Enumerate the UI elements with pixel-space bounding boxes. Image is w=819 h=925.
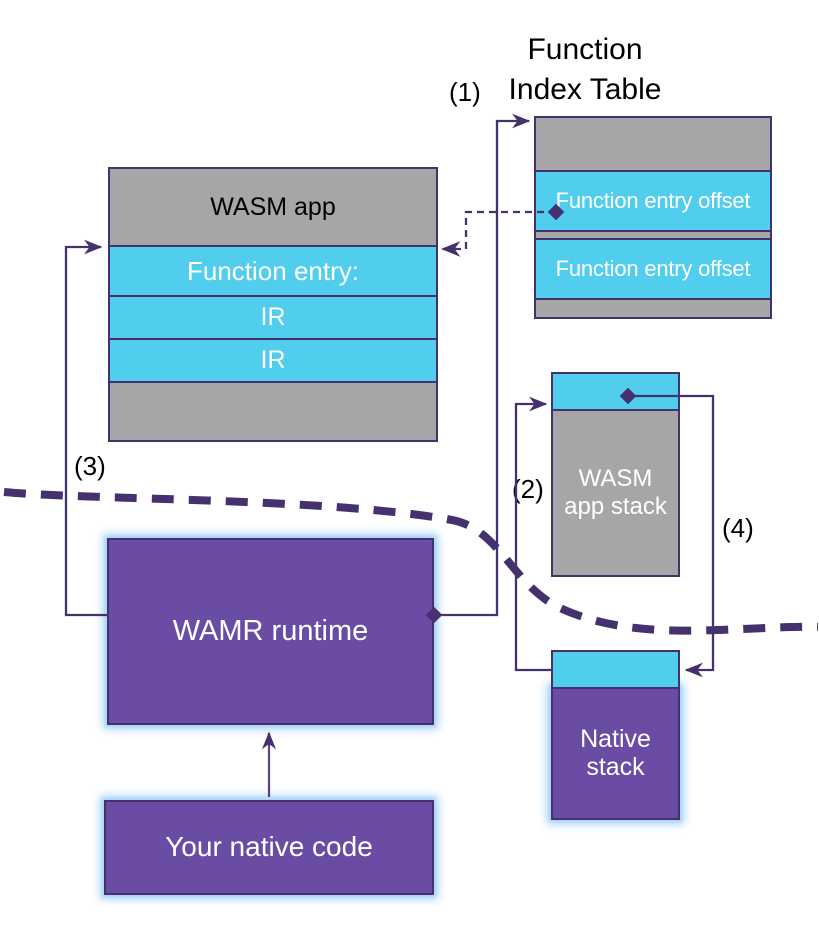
wasm-app-ir-row-2[interactable]: IR: [108, 338, 438, 383]
step-label-4: (4): [722, 514, 754, 544]
your-native-code-box[interactable]: Your native code: [104, 800, 434, 895]
wasm-app-stack-body: WASM app stack: [551, 409, 680, 577]
function-index-table-title-line1: Function: [527, 33, 642, 68]
wasm-app-function-entry-row[interactable]: Function entry:: [108, 245, 438, 297]
step-label-3: (3): [74, 452, 106, 482]
diagram-canvas: Function Index Table (1) (2) (3) (4) Fun…: [0, 0, 819, 925]
function-index-table: Function entry offset Function entry off…: [534, 116, 772, 319]
wasm-app-ir-label-1: IR: [261, 303, 286, 332]
native-stack-body: Native stack: [551, 687, 680, 820]
step-label-2: (2): [512, 475, 544, 505]
native-stack-top-band[interactable]: [551, 650, 680, 689]
fit-offset-label-2: Function entry offset: [556, 256, 751, 282]
native-stack-label-line1: Native: [580, 726, 651, 754]
wasm-app-footer-row: [108, 381, 438, 442]
wasm-app-stack-label-line2: app stack: [564, 493, 667, 521]
wasm-app-header-row: WASM app: [108, 167, 438, 247]
function-index-table-title-line2: Index Table: [509, 73, 662, 108]
your-native-code-label: Your native code: [165, 832, 373, 863]
wasm-app-block: WASM app Function entry: IR IR: [108, 167, 438, 442]
step-label-1: (1): [449, 78, 481, 108]
wasm-app-function-entry-label: Function entry:: [187, 256, 359, 287]
wasm-app-stack-block: WASM app stack: [551, 372, 680, 577]
fit-row-top-gray: [534, 116, 772, 172]
native-stack-label-line2: stack: [586, 754, 644, 782]
fit-offset-label-1: Function entry offset: [556, 188, 751, 214]
connector-step-1: [434, 121, 529, 615]
fit-row-function-entry-offset-2[interactable]: Function entry offset: [534, 238, 772, 300]
wasm-app-ir-label-2: IR: [261, 346, 286, 375]
wasm-app-stack-label-line1: WASM: [579, 465, 653, 493]
native-stack-block: Native stack: [551, 650, 680, 820]
wamr-runtime-box[interactable]: WAMR runtime: [107, 538, 434, 725]
connector-step-3: [66, 247, 107, 615]
wamr-runtime-label: WAMR runtime: [173, 616, 369, 648]
wasm-app-stack-top-band[interactable]: [551, 372, 680, 411]
wasm-app-ir-row-1[interactable]: IR: [108, 295, 438, 340]
fit-row-function-entry-offset-1[interactable]: Function entry offset: [534, 170, 772, 232]
wasm-app-title: WASM app: [210, 193, 336, 222]
fit-row-bottom-gray: [534, 298, 772, 319]
